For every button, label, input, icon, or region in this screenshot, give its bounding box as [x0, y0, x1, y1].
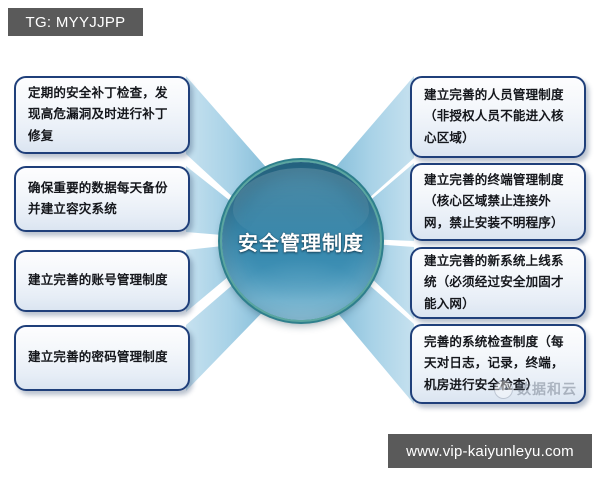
site-watermark-text: www.vip-kaiyunleyu.com — [406, 443, 574, 460]
diagram-canvas: 安全管理制度 定期的安全补丁检查，发现高危漏洞及时进行补丁修复 确保重要的数据每… — [0, 0, 600, 480]
node-left-4-text: 建立完善的密码管理制度 — [28, 347, 176, 369]
node-left-2[interactable]: 确保重要的数据每天备份并建立容灾系统 — [14, 166, 190, 232]
node-left-3[interactable]: 建立完善的账号管理制度 — [14, 250, 190, 312]
node-right-1[interactable]: 建立完善的人员管理制度（非授权人员不能进入核心区域） — [410, 76, 586, 158]
node-right-1-text: 建立完善的人员管理制度（非授权人员不能进入核心区域） — [424, 85, 572, 150]
node-right-3[interactable]: 建立完善的新系统上线系统（必须经过安全加固才能入网） — [410, 247, 586, 319]
tg-watermark-text: TG: MYYJJPP — [26, 14, 126, 31]
node-left-1[interactable]: 定期的安全补丁检查，发现高危漏洞及时进行补丁修复 — [14, 76, 190, 154]
node-left-4[interactable]: 建立完善的密码管理制度 — [14, 325, 190, 391]
node-left-1-text: 定期的安全补丁检查，发现高危漏洞及时进行补丁修复 — [28, 83, 176, 148]
center-node[interactable]: 安全管理制度 — [222, 162, 380, 320]
node-left-2-text: 确保重要的数据每天备份并建立容灾系统 — [28, 178, 176, 221]
node-right-2[interactable]: 建立完善的终端管理制度（核心区域禁止连接外网，禁止安装不明程序） — [410, 163, 586, 241]
node-right-3-text: 建立完善的新系统上线系统（必须经过安全加固才能入网） — [424, 251, 572, 316]
node-left-3-text: 建立完善的账号管理制度 — [28, 270, 176, 292]
node-right-2-text: 建立完善的终端管理制度（核心区域禁止连接外网，禁止安装不明程序） — [424, 170, 572, 235]
site-watermark: www.vip-kaiyunleyu.com — [388, 434, 592, 468]
center-node-label: 安全管理制度 — [238, 227, 364, 256]
tg-watermark: TG: MYYJJPP — [8, 8, 143, 36]
node-right-4[interactable]: 完善的系统检查制度（每天对日志，记录，终端，机房进行安全检查） — [410, 324, 586, 404]
node-right-4-text: 完善的系统检查制度（每天对日志，记录，终端，机房进行安全检查） — [424, 332, 572, 397]
